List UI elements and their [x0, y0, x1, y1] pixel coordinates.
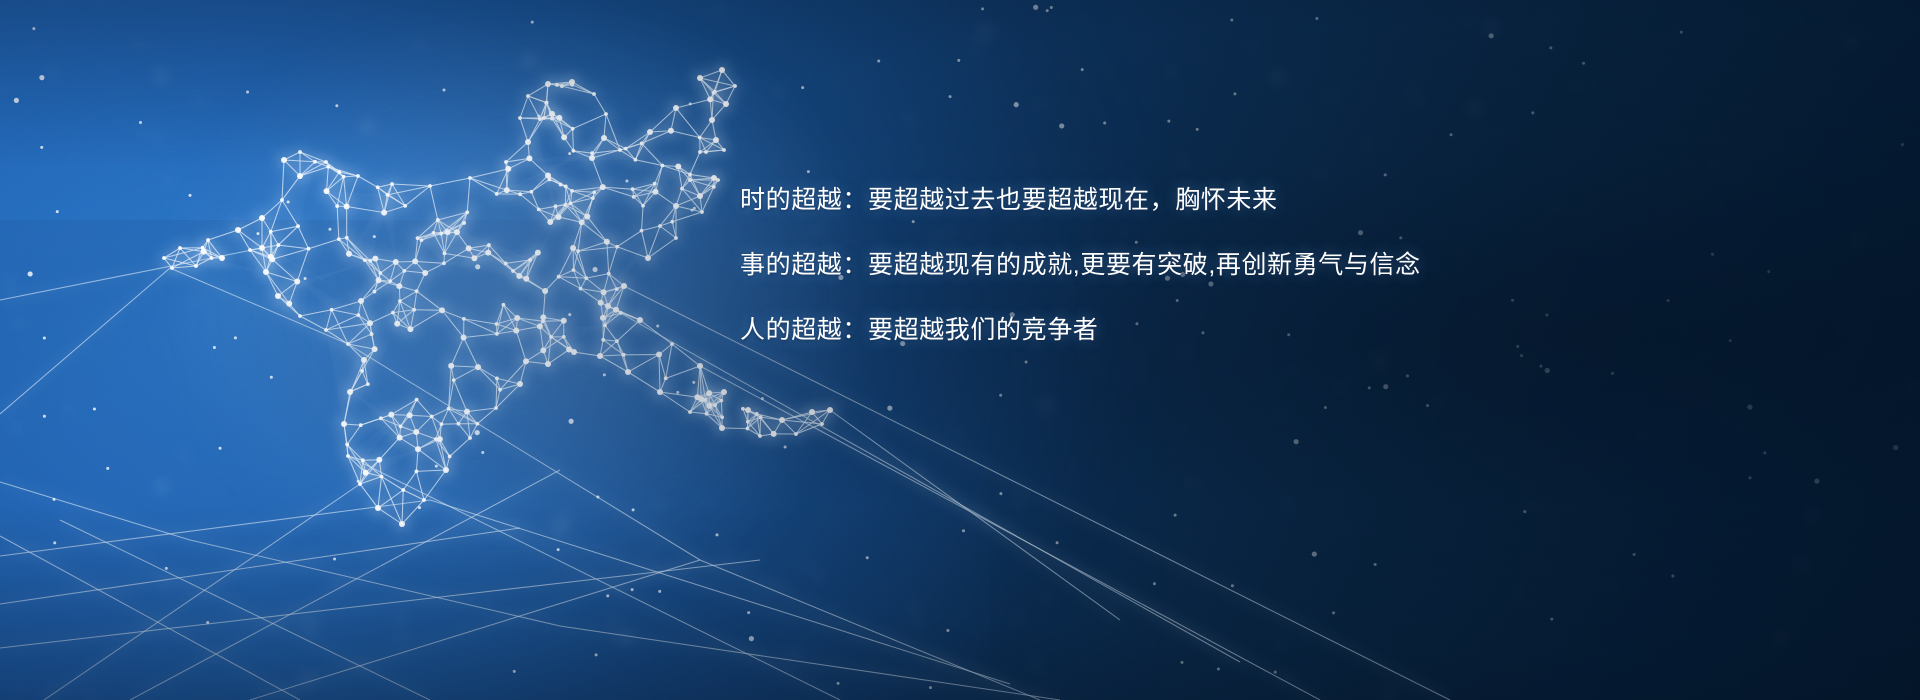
background-vignette [0, 0, 1920, 700]
headline-block: 时的超越：要超越过去也要超越现在，胸怀未来 事的超越：要超越现有的成就,更要有突… [740, 188, 1500, 343]
headline-line-1: 时的超越：要超越过去也要超越现在，胸怀未来 [740, 188, 1500, 213]
hero-banner: 时的超越：要超越过去也要超越现在，胸怀未来 事的超越：要超越现有的成就,更要有突… [0, 0, 1920, 700]
headline-line-2: 事的超越：要超越现有的成就,更要有突破,再创新勇气与信念 [740, 253, 1500, 278]
headline-line-3: 人的超越：要超越我们的竞争者 [740, 318, 1500, 343]
